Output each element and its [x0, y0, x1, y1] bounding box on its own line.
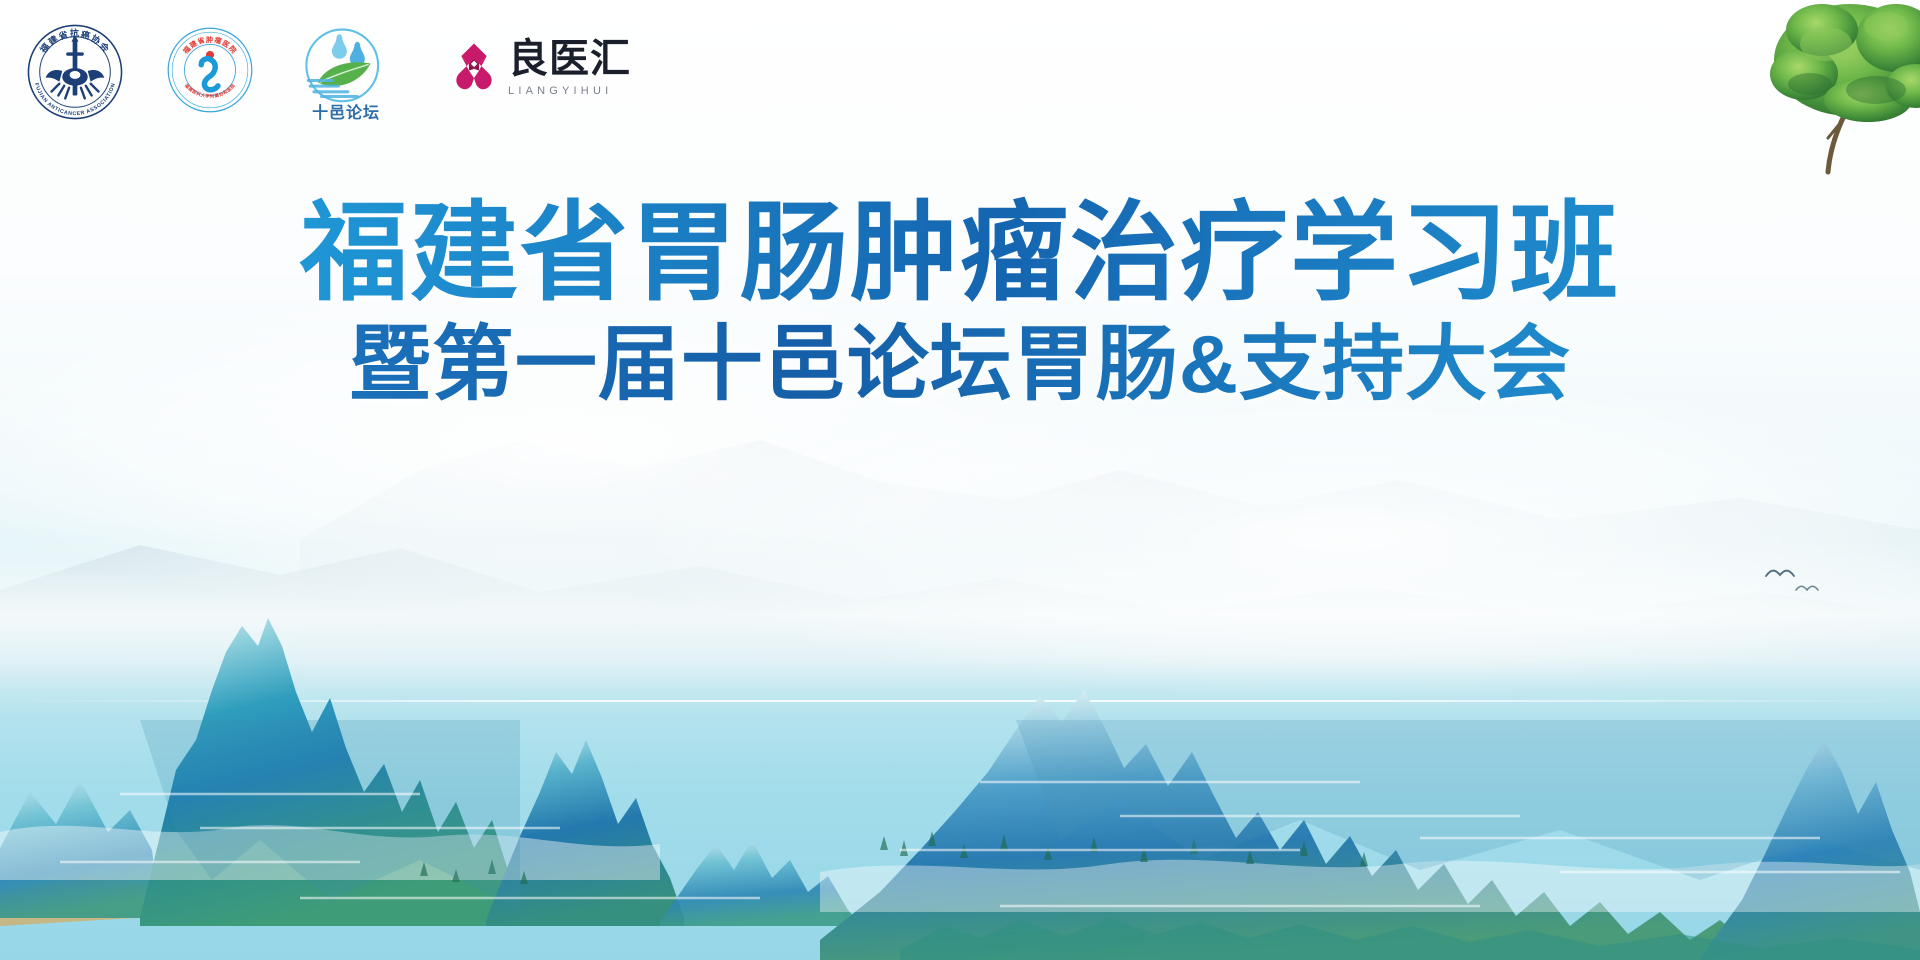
logo-shiyi-forum: 十邑论坛 [294, 22, 398, 122]
water-horizon-line [0, 700, 1920, 702]
sky-haze-right [653, 384, 1920, 691]
event-banner: 福建省抗癌协会 FUJIAN ANTICANCER ASSOCIATION 福建… [0, 0, 1920, 960]
logo-fujian-provincial-hospital: 福建省肿瘤医院 福建医科大学附属协和医院 [166, 26, 254, 114]
shiyi-forum-icon: 十邑论坛 [294, 22, 398, 122]
awareness-ribbon-icon [452, 41, 496, 95]
liangyihui-wordmark: 良医汇 LIANGYIHUI [508, 39, 631, 97]
fujian-anticancer-association-icon: 福建省抗癌协会 FUJIAN ANTICANCER ASSOCIATION [26, 23, 124, 121]
sponsor-logo-row: 福建省抗癌协会 FUJIAN ANTICANCER ASSOCIATION 福建… [26, 22, 631, 122]
page-title: 福建省胃肠肿瘤治疗学习班 [0, 196, 1920, 310]
tree-icon [1700, 0, 1920, 196]
logo-fujian-anticancer-association: 福建省抗癌协会 FUJIAN ANTICANCER ASSOCIATION [26, 23, 124, 121]
birds-icon [1760, 560, 1830, 600]
fujian-provincial-hospital-icon: 福建省肿瘤医院 福建医科大学附属协和医院 [166, 26, 254, 114]
lake-water [0, 660, 1920, 960]
title-block: 福建省胃肠肿瘤治疗学习班 暨第一届十邑论坛胃肠&支持大会 [0, 196, 1920, 411]
liangyihui-name-en: LIANGYIHUI [508, 86, 631, 97]
liangyihui-name-cn: 良医汇 [508, 39, 631, 79]
logo-liangyihui: 良医汇 LIANGYIHUI [452, 39, 631, 97]
page-subtitle: 暨第一届十邑论坛胃肠&支持大会 [0, 320, 1920, 410]
svg-text:十邑论坛: 十邑论坛 [312, 103, 380, 122]
